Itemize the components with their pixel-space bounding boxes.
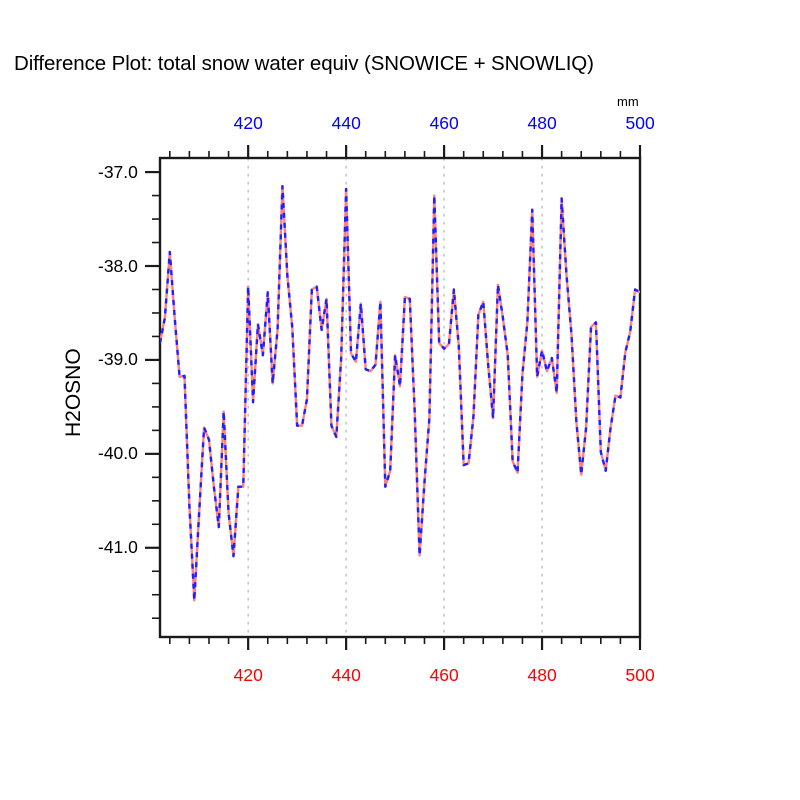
y-tick-label--38.0: -38.0	[98, 256, 138, 277]
y-tick-label--37.0: -37.0	[98, 162, 138, 183]
x-tick-label-bottom-440: 440	[332, 665, 361, 686]
difference-plot-figure: Difference Plot: total snow water equiv …	[0, 0, 800, 800]
x-tick-label-top-440: 440	[332, 113, 361, 134]
x-tick-label-top-420: 420	[234, 113, 263, 134]
x-tick-label-bottom-420: 420	[234, 665, 263, 686]
x-tick-label-top-480: 480	[528, 113, 557, 134]
y-tick-label--39.0: -39.0	[98, 349, 138, 370]
plot-frame	[160, 158, 640, 637]
plot-canvas	[0, 0, 800, 800]
y-tick-label--41.0: -41.0	[98, 537, 138, 558]
x-tick-label-top-460: 460	[430, 113, 459, 134]
x-tick-label-bottom-480: 480	[528, 665, 557, 686]
x-tick-label-bottom-460: 460	[430, 665, 459, 686]
x-tick-label-top-500: 500	[626, 113, 655, 134]
y-tick-label--40.0: -40.0	[98, 443, 138, 464]
x-tick-label-bottom-500: 500	[626, 665, 655, 686]
data-series-2	[160, 186, 640, 600]
